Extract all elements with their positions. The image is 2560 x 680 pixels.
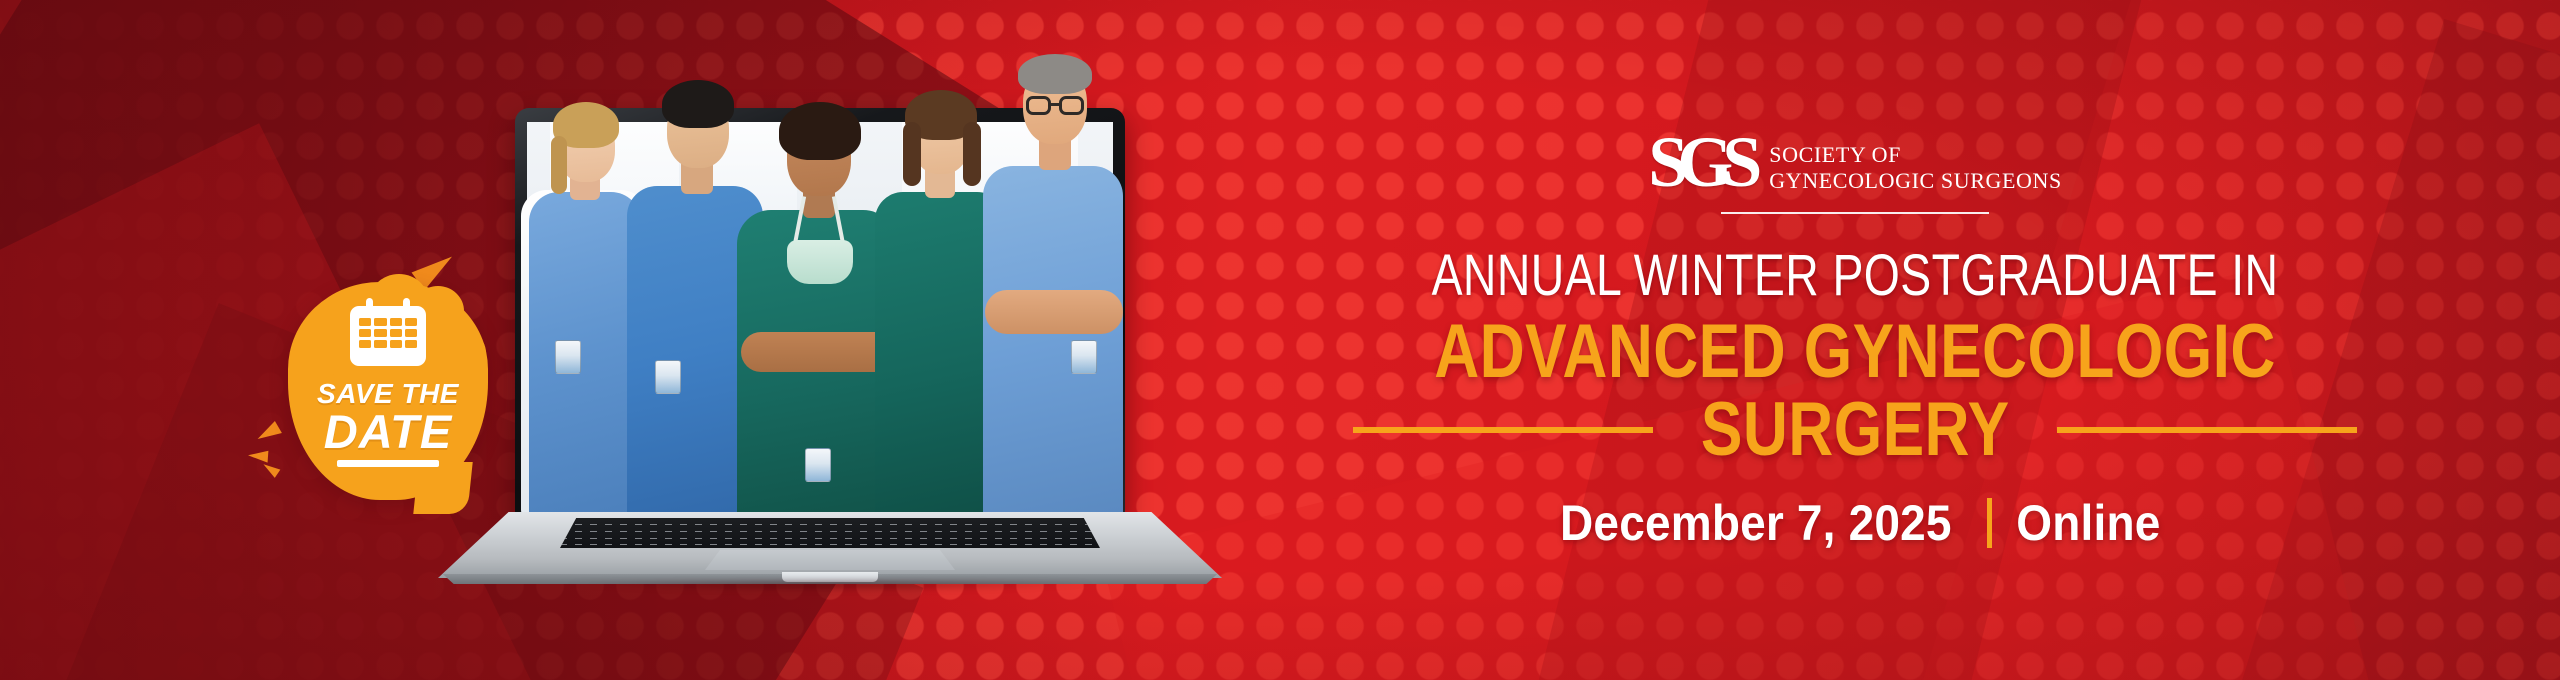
badge-underline <box>337 460 439 467</box>
sgs-monogram: SGS <box>1648 134 1759 190</box>
headline-second-row: SURGERY <box>1240 392 2470 468</box>
sgs-wordmark-line-1: SOCIETY OF <box>1769 142 2062 168</box>
sgs-wordmark: SOCIETY OF GYNECOLOGIC SURGEONS <box>1769 134 2062 194</box>
headline-kicker: ANNUAL WINTER POSTGRADUATE IN <box>1363 242 2347 309</box>
banner-content: SGS SOCIETY OF GYNECOLOGIC SURGEONS ANNU… <box>1240 0 2470 680</box>
event-details: December 7, 2025 Online <box>1240 494 2470 552</box>
badge-tail <box>413 462 472 514</box>
headline-second: SURGERY <box>1701 392 2010 468</box>
sgs-logo-underline <box>1721 212 1989 214</box>
headline-main: ADVANCED GYNECOLOGIC <box>1351 308 2360 395</box>
sgs-wordmark-line-2: GYNECOLOGIC SURGEONS <box>1769 168 2062 194</box>
event-date: December 7, 2025 <box>1560 494 1952 552</box>
laptop-notch <box>782 572 878 582</box>
laptop-screen <box>527 122 1113 510</box>
laptop-shadow <box>460 582 1200 608</box>
laptop-keyboard <box>560 518 1100 548</box>
laptop-trackpad <box>705 550 955 570</box>
badge-bump-4 <box>300 334 344 378</box>
event-divider <box>1987 498 1992 548</box>
headline-rule-right <box>2057 427 2357 433</box>
sgs-logo: SGS SOCIETY OF GYNECOLOGIC SURGEONS <box>1648 134 2062 194</box>
medical-team-photo <box>527 122 1113 510</box>
event-mode: Online <box>2016 494 2160 552</box>
badge-bump-5 <box>440 330 486 376</box>
headline-rule-left <box>1353 427 1653 433</box>
laptop-screen-bezel <box>515 108 1125 520</box>
event-banner: SAVE THE DATE SGS SOCIETY OF GYNECOLOGIC… <box>0 0 2560 680</box>
save-the-date-badge: SAVE THE DATE <box>288 282 488 500</box>
badge-line-2: DATE <box>288 404 488 459</box>
laptop-base <box>430 512 1230 604</box>
laptop-device <box>430 40 1230 610</box>
